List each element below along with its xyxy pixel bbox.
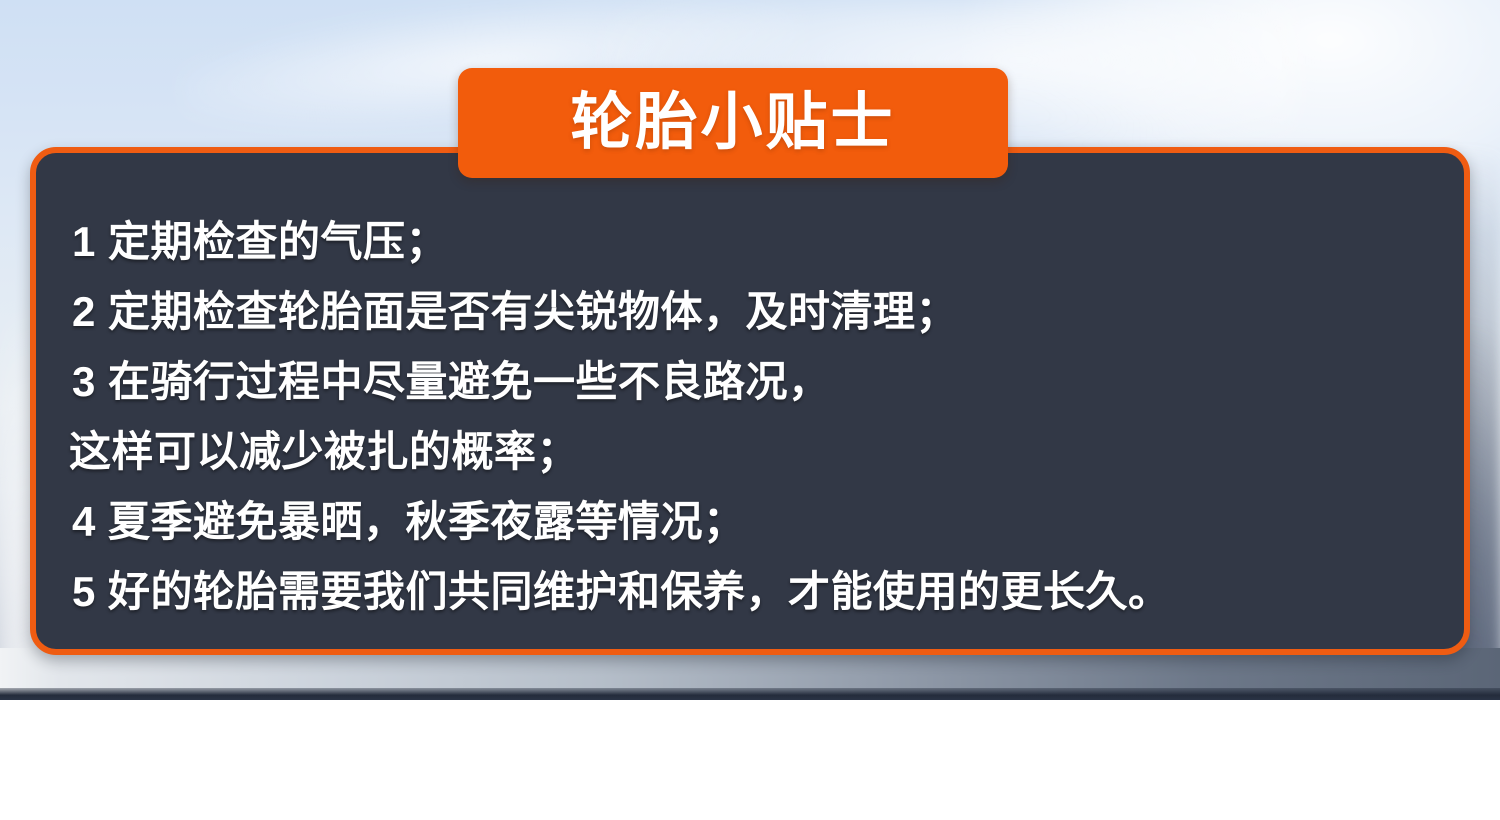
ground-shadow-strip <box>0 688 1500 700</box>
tips-card: 1 定期检查的气压； 2 定期检查轮胎面是否有尖锐物体，及时清理； 3 在骑行过… <box>30 147 1470 655</box>
tip-item-5: 5 好的轮胎需要我们共同维护和保养，才能使用的更长久。 <box>72 557 1442 627</box>
page-title: 轮胎小贴士 <box>570 92 895 154</box>
promo-banner-canvas: 1 定期检查的气压； 2 定期检查轮胎面是否有尖锐物体，及时清理； 3 在骑行过… <box>0 0 1500 820</box>
title-banner: 轮胎小贴士 <box>458 68 1008 178</box>
bottom-white-plate <box>0 700 1500 820</box>
tips-list: 1 定期检查的气压； 2 定期检查轮胎面是否有尖锐物体，及时清理； 3 在骑行过… <box>72 207 1442 627</box>
tip-item-2: 2 定期检查轮胎面是否有尖锐物体，及时清理； <box>72 277 1442 347</box>
tip-item-3-continuation: 这样可以减少被扎的概率； <box>69 417 1442 487</box>
tip-item-3: 3 在骑行过程中尽量避免一些不良路况， <box>72 347 1442 417</box>
tip-item-4: 4 夏季避免暴晒，秋季夜露等情况； <box>72 487 1442 557</box>
tip-item-1: 1 定期检查的气压； <box>72 207 1442 277</box>
